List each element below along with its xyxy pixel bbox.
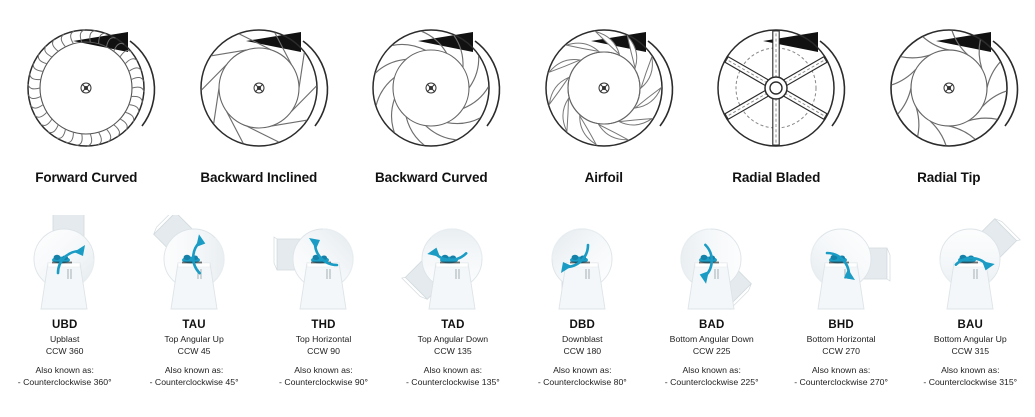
discharge-ccw-dbd: CCW 180: [518, 346, 647, 356]
wheel-hub-icon: [944, 83, 954, 93]
discharge-ccw-bhd: CCW 270: [776, 346, 905, 356]
fan-housing-dbd: [518, 215, 647, 317]
aka-item-bhd: - Counterclockwise 270°: [776, 377, 905, 387]
discharge-ccw-tad: CCW 135: [388, 346, 517, 356]
discharge-cell-dbd: DBD Downblast CCW 180 Also known as: - C…: [518, 215, 647, 417]
fan-housing-tad: [388, 215, 517, 317]
discharge-desc-bad: Bottom Angular Down: [647, 334, 776, 344]
fan-housing-bad: [647, 215, 776, 317]
discharge-desc-ubd: Upblast: [0, 334, 129, 344]
discharge-desc-tau: Top Angular Up: [129, 334, 258, 344]
fan-wheel-discharge-diagram: Forward Curved: [0, 0, 1035, 417]
fan-housing-tau: [129, 215, 258, 317]
rotation-arrow-icon: [936, 32, 1017, 126]
aka-title-dbd: Also known as:: [518, 365, 647, 375]
discharge-cell-tau: TAU Top Angular Up CCW 45 Also known as:…: [129, 215, 258, 417]
wheel-label-backward-curved: Backward Curved: [345, 170, 518, 185]
discharge-code-tau: TAU: [129, 319, 258, 331]
wheel-types-row: Forward Curved: [0, 0, 1035, 205]
aka-item-bau: - Counterclockwise 315°: [906, 377, 1035, 387]
wheel-hub-icon: [254, 83, 264, 93]
fan-housing-ubd: [0, 215, 129, 317]
wheel-diagram-backward-curved: [345, 8, 518, 168]
fan-housing-bhd: [776, 215, 905, 317]
wheel-cell-radial-tip: Radial Tip: [863, 8, 1035, 205]
fan-housing-bau: [906, 215, 1035, 317]
aka-title-tad: Also known as:: [388, 365, 517, 375]
wheel-cell-backward-inclined: Backward Inclined: [173, 8, 346, 205]
wheel-diagram-backward-inclined: [173, 8, 346, 168]
discharge-code-dbd: DBD: [518, 319, 647, 331]
aka-title-bhd: Also known as:: [776, 365, 905, 375]
discharge-ccw-thd: CCW 90: [259, 346, 388, 356]
discharge-desc-bau: Bottom Angular Up: [906, 334, 1035, 344]
discharge-cell-bad: BAD Bottom Angular Down CCW 225 Also kno…: [647, 215, 776, 417]
discharge-desc-tad: Top Angular Down: [388, 334, 517, 344]
wheel-label-radial-tip: Radial Tip: [863, 170, 1035, 185]
aka-title-thd: Also known as:: [259, 365, 388, 375]
wheel-hub-icon: [426, 83, 436, 93]
wheel-diagram-radial-bladed: [690, 8, 863, 168]
wheel-label-backward-inclined: Backward Inclined: [173, 170, 346, 185]
aka-title-bau: Also known as:: [906, 365, 1035, 375]
discharge-cell-thd: THD Top Horizontal CCW 90 Also known as:…: [259, 215, 388, 417]
discharge-cell-tad: TAD Top Angular Down CCW 135 Also known …: [388, 215, 517, 417]
wheel-label-radial-bladed: Radial Bladed: [690, 170, 863, 185]
discharge-cell-bau: BAU Bottom Angular Up CCW 315 Also known…: [906, 215, 1035, 417]
aka-title-bad: Also known as:: [647, 365, 776, 375]
discharge-ccw-ubd: CCW 360: [0, 346, 129, 356]
aka-item-tau: - Counterclockwise 45°: [129, 377, 258, 387]
discharge-code-thd: THD: [259, 319, 388, 331]
rotation-arrow-icon: [418, 32, 499, 126]
discharge-ccw-bau: CCW 315: [906, 346, 1035, 356]
discharge-desc-bhd: Bottom Horizontal: [776, 334, 905, 344]
discharge-code-ubd: UBD: [0, 319, 129, 331]
wheel-cell-airfoil: Airfoil: [518, 8, 691, 205]
discharge-positions-row: UBD Upblast CCW 360 Also known as: - Cou…: [0, 215, 1035, 417]
aka-item-tad: - Counterclockwise 135°: [388, 377, 517, 387]
discharge-code-bau: BAU: [906, 319, 1035, 331]
discharge-code-bad: BAD: [647, 319, 776, 331]
wheel-cell-radial-bladed: Radial Bladed: [690, 8, 863, 205]
discharge-code-bhd: BHD: [776, 319, 905, 331]
discharge-desc-thd: Top Horizontal: [259, 334, 388, 344]
wheel-diagram-forward-curved: [0, 8, 173, 168]
aka-item-thd: - Counterclockwise 90°: [259, 377, 388, 387]
wheel-diagram-radial-tip: [863, 8, 1035, 168]
aka-item-dbd: - Counterclockwise 80°: [518, 377, 647, 387]
discharge-desc-dbd: Downblast: [518, 334, 647, 344]
discharge-ccw-tau: CCW 45: [129, 346, 258, 356]
aka-title-tau: Also known as:: [129, 365, 258, 375]
wheel-cell-forward-curved: Forward Curved: [0, 8, 173, 205]
wheel-cell-backward-curved: Backward Curved: [345, 8, 518, 205]
wheel-hub-icon: [81, 83, 91, 93]
aka-item-ubd: - Counterclockwise 360°: [0, 377, 129, 387]
wheel-hub-icon: [765, 77, 787, 99]
wheel-diagram-airfoil: [518, 8, 691, 168]
discharge-cell-bhd: BHD Bottom Horizontal CCW 270 Also known…: [776, 215, 905, 417]
wheel-label-airfoil: Airfoil: [518, 170, 691, 185]
fan-housing-thd: [259, 215, 388, 317]
aka-title-ubd: Also known as:: [0, 365, 129, 375]
rotation-arrow-icon: [246, 32, 327, 126]
wheel-label-forward-curved: Forward Curved: [0, 170, 173, 185]
discharge-code-tad: TAD: [388, 319, 517, 331]
discharge-ccw-bad: CCW 225: [647, 346, 776, 356]
aka-item-bad: - Counterclockwise 225°: [647, 377, 776, 387]
discharge-cell-ubd: UBD Upblast CCW 360 Also known as: - Cou…: [0, 215, 129, 417]
